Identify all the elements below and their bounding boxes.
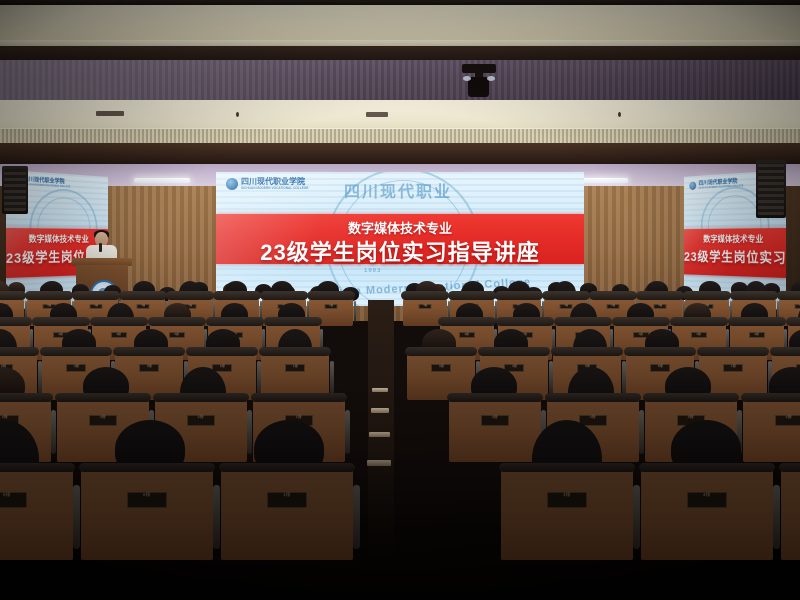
auditorium-seat: 6排 xyxy=(81,468,213,560)
auditorium-seat: 3排 xyxy=(501,468,633,560)
seat-number-plate: 3排 xyxy=(431,364,451,372)
seat-headrest xyxy=(119,291,167,300)
seat-number-plate: 1排 xyxy=(285,364,305,372)
seat-headrest xyxy=(148,317,206,326)
seat-armrest xyxy=(622,361,626,395)
ceiling-sprinkler-icon xyxy=(618,112,621,117)
seat-headrest xyxy=(0,317,32,326)
pa-speaker-left-icon xyxy=(2,166,28,214)
seat-armrest xyxy=(38,361,42,395)
aisle-step xyxy=(369,432,390,437)
auditorium-seat: 6排 xyxy=(743,398,800,462)
auditorium-seat: 1排 xyxy=(221,468,353,560)
seat-headrest xyxy=(730,291,778,300)
seat-headrest xyxy=(779,463,800,472)
ceiling-soffit xyxy=(0,5,800,47)
seat-armrest xyxy=(549,361,553,395)
seat-headrest xyxy=(786,317,800,326)
seat-armrest xyxy=(639,410,644,455)
seat-headrest xyxy=(643,393,739,402)
seat-headrest xyxy=(447,393,543,402)
seat-headrest xyxy=(777,291,800,300)
seat-headrest xyxy=(612,317,670,326)
seat-armrest xyxy=(73,485,80,549)
seat-headrest xyxy=(40,347,112,356)
seat-headrest xyxy=(438,317,496,326)
seat-number-plate: 1排 xyxy=(723,364,743,372)
seat-armrest xyxy=(345,410,350,455)
seat-headrest xyxy=(72,291,120,300)
seat-headrest xyxy=(554,317,612,326)
seat-headrest xyxy=(683,291,731,300)
seat-number-plate: 4排 xyxy=(459,332,475,338)
ceiling-sprinkler-icon xyxy=(236,112,239,117)
seat-headrest xyxy=(670,317,728,326)
ceiling-vent-icon xyxy=(96,111,124,116)
seat-number-plate: 3排 xyxy=(90,304,103,309)
auditorium-seat: 5排 xyxy=(781,468,800,560)
center-aisle xyxy=(368,300,394,600)
seat-headrest xyxy=(624,347,696,356)
seat-headrest xyxy=(0,393,53,402)
seat-number-plate: 5排 xyxy=(0,492,27,508)
seat-number-plate: 3排 xyxy=(547,492,587,508)
seat-number-plate: 1排 xyxy=(267,492,307,508)
seat-number-plate: 3排 xyxy=(749,332,765,338)
seat-headrest xyxy=(260,291,308,300)
seat-headrest xyxy=(206,317,264,326)
seat-number-plate: 6排 xyxy=(187,415,215,426)
ceiling-projector-icon xyxy=(462,64,496,98)
seat-headrest xyxy=(545,393,641,402)
center-screen-banner: 数字媒体技术专业 23级学生岗位实习指导讲座 xyxy=(216,214,584,264)
seat-headrest xyxy=(32,317,90,326)
seat-headrest xyxy=(153,393,249,402)
logo-text-cn: 四川现代职业学院 xyxy=(241,178,309,186)
ceiling-slat-panel xyxy=(0,60,800,102)
seat-armrest xyxy=(633,485,640,549)
seat-headrest xyxy=(496,317,554,326)
seat-headrest xyxy=(0,291,26,300)
seat-number-plate: 2排 xyxy=(691,332,707,338)
right-screen-banner: 数字媒体技术专业 23级学生岗位实习指导讲座 xyxy=(684,228,786,278)
seat-armrest xyxy=(773,485,780,549)
seat-headrest xyxy=(113,347,185,356)
seat-headrest xyxy=(166,291,214,300)
microphone-icon xyxy=(99,243,102,252)
logo-text-en: SICHUAN MODERN VOCATIONAL COLLEGE xyxy=(241,187,309,190)
seal-year: 1993 xyxy=(364,268,381,274)
seat-headrest xyxy=(589,291,637,300)
seat-headrest xyxy=(259,347,331,356)
banner-subtitle: 数字媒体技术专业 xyxy=(684,232,786,245)
seat-number-plate: 4排 xyxy=(419,304,432,309)
auditorium-photo: 四川现代职业学院 SICHUAN MODERN VOCATIONAL COLLE… xyxy=(0,0,800,600)
auditorium-seat: 5排 xyxy=(0,468,73,560)
seat-headrest xyxy=(213,291,261,300)
seat-headrest xyxy=(264,317,322,326)
seat-headrest xyxy=(405,347,477,356)
seat-number-plate: 1排 xyxy=(560,304,573,309)
seat-headrest xyxy=(499,463,635,472)
seat-number-plate: 5排 xyxy=(169,332,185,338)
seat-number-plate: 3排 xyxy=(654,304,667,309)
seat-headrest xyxy=(728,317,786,326)
ceiling-beam-lower xyxy=(0,143,800,165)
seat-headrest xyxy=(0,463,75,472)
aisle-step xyxy=(372,388,388,392)
seat-headrest xyxy=(25,291,73,300)
seat-headrest xyxy=(186,347,258,356)
seat-armrest xyxy=(330,361,334,395)
aisle-step xyxy=(367,460,391,466)
seat-armrest xyxy=(354,301,356,322)
seat-headrest xyxy=(495,291,543,300)
seat-number-plate: 6排 xyxy=(650,364,670,372)
seat-headrest xyxy=(741,393,800,402)
banner-title: 23级学生岗位实习指导讲座 xyxy=(684,247,786,268)
seat-headrest xyxy=(90,317,148,326)
seat-armrest xyxy=(257,361,261,395)
seat-armrest xyxy=(51,410,56,455)
seat-number-plate: 6排 xyxy=(127,492,167,508)
seat-armrest xyxy=(247,410,252,455)
auditorium-seat: 4排 xyxy=(641,468,773,560)
auditorium-seat: 3排 xyxy=(449,398,541,462)
banner-title: 23级学生岗位实习指导讲座 xyxy=(216,235,584,267)
seat-headrest xyxy=(0,347,39,356)
seat-headrest xyxy=(636,291,684,300)
seat-number-plate: 4排 xyxy=(66,364,86,372)
aisle-step xyxy=(371,408,389,413)
seat-number-plate: 5排 xyxy=(89,415,117,426)
seat-headrest xyxy=(307,291,355,300)
ceiling-vent-icon xyxy=(366,112,388,117)
seat-headrest xyxy=(478,347,550,356)
seat-headrest xyxy=(542,291,590,300)
seat-number-plate: 4排 xyxy=(687,492,727,508)
seat-headrest xyxy=(448,291,496,300)
seat-number-plate: 4排 xyxy=(111,332,127,338)
seal-text-cn: 四川现代职业 xyxy=(344,178,452,202)
seat-armrest xyxy=(213,485,220,549)
seat-number-plate: 6排 xyxy=(795,304,800,309)
seat-armrest xyxy=(353,485,360,549)
seat-headrest xyxy=(639,463,775,472)
seat-number-plate: 2排 xyxy=(325,304,338,309)
seat-number-plate: 5排 xyxy=(139,364,159,372)
seat-headrest xyxy=(79,463,215,472)
seat-headrest xyxy=(551,347,623,356)
pa-speaker-right-icon xyxy=(756,160,786,218)
seat-number-plate: 4排 xyxy=(137,304,150,309)
seat-headrest xyxy=(251,393,347,402)
seat-headrest xyxy=(770,347,800,356)
seat-headrest xyxy=(401,291,449,300)
seat-headrest xyxy=(697,347,769,356)
ceiling-light-icon xyxy=(134,178,190,183)
seat-number-plate: 6排 xyxy=(775,415,800,426)
seat-number-plate: 3排 xyxy=(481,415,509,426)
seat-headrest xyxy=(55,393,151,402)
seat-headrest xyxy=(219,463,355,472)
seat-number-plate: 2排 xyxy=(607,304,620,309)
screen-logo-center: 四川现代职业学院 SICHUAN MODERN VOCATIONAL COLLE… xyxy=(226,178,309,190)
